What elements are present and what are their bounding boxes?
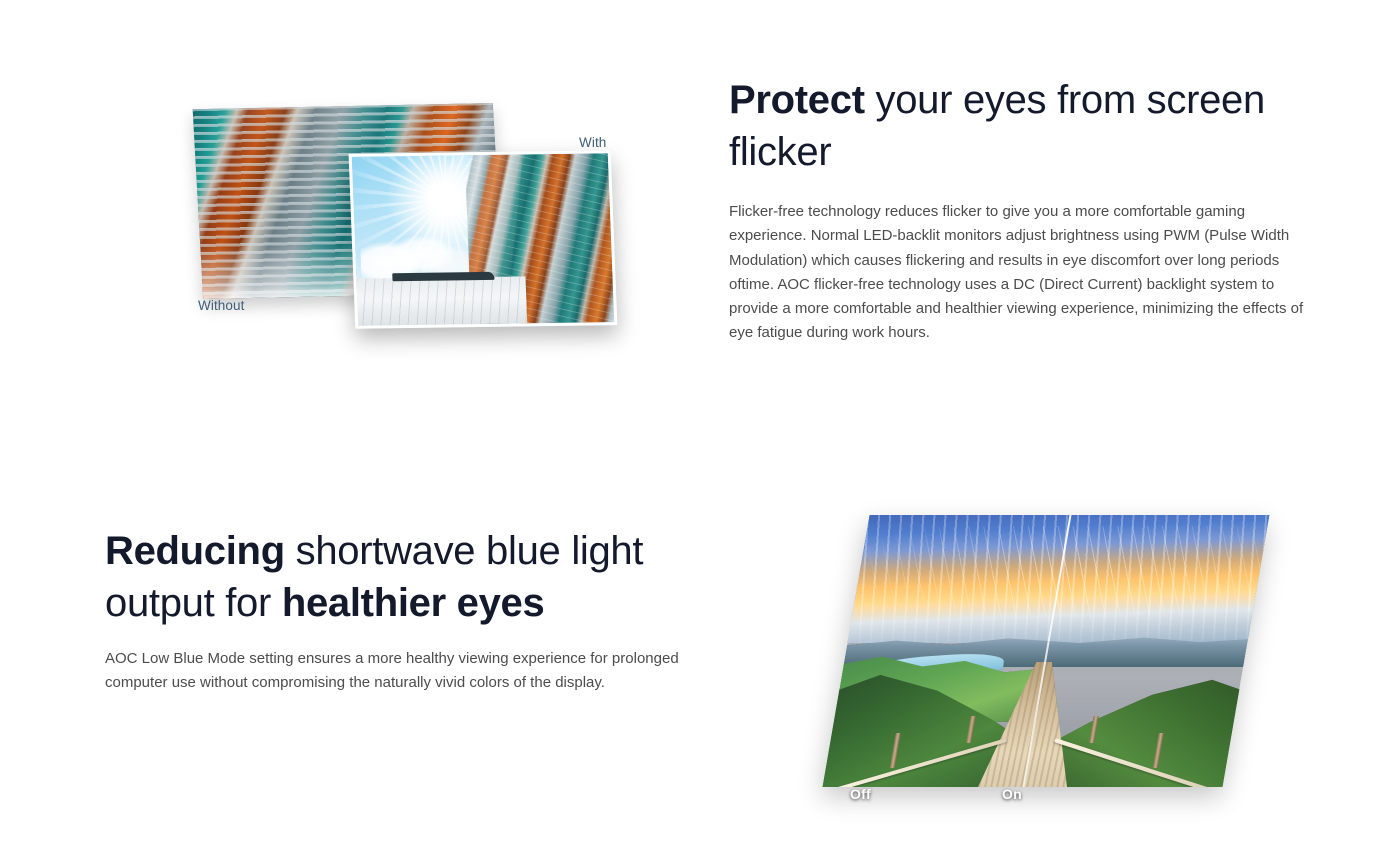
ridge-right [1006, 667, 1268, 787]
bluelight-heading-emphasis-1: Reducing [105, 529, 285, 573]
section-flicker: Without With Protect your eyes from scre… [0, 0, 1400, 430]
fence-post [1089, 716, 1099, 743]
fence-rail-left [837, 738, 1007, 787]
label-on: On [1002, 786, 1022, 802]
bluelight-heading-emphasis-2: healthier eyes [282, 581, 545, 625]
flicker-heading: Protect your eyes from screen flicker [729, 74, 1329, 178]
fence-rail-right [1054, 738, 1208, 787]
page-root: Without With Protect your eyes from scre… [0, 0, 1400, 854]
flicker-paragraph: Flicker-free technology reduces flicker … [729, 200, 1314, 346]
bluelight-heading: Reducing shortwave blue light output for… [105, 525, 705, 629]
label-off: Off [850, 786, 871, 802]
flicker-heading-emphasis: Protect [729, 78, 865, 122]
crater-lake [857, 651, 1005, 688]
plaza-shadow-strip [392, 271, 495, 281]
flicker-comparison-image: Without With [180, 80, 640, 350]
fence-post [1153, 733, 1164, 768]
photo-half-low-blue-on [1023, 515, 1270, 787]
bluelight-text-block: Reducing shortwave blue light output for… [105, 525, 705, 696]
bluelight-comparison-image: Off On [810, 515, 1290, 815]
label-with: With [579, 135, 606, 150]
bluelight-paragraph: AOC Low Blue Mode setting ensures a more… [105, 647, 702, 696]
bluelight-heading-mid-1: shortwave blue [285, 529, 571, 573]
label-without: Without [198, 298, 244, 313]
plaza-foreground [356, 276, 527, 326]
green-valley [834, 651, 1054, 722]
fence-post [966, 716, 976, 743]
section-bluelight: Reducing shortwave blue light output for… [0, 430, 1400, 854]
flicker-text-block: Protect your eyes from screen flicker Fl… [729, 74, 1329, 346]
fence-post [890, 733, 901, 768]
ridge-left [823, 662, 1077, 787]
bluelight-photo-frame [823, 515, 1270, 787]
monitor-screen-with-flickerfree [349, 150, 618, 329]
